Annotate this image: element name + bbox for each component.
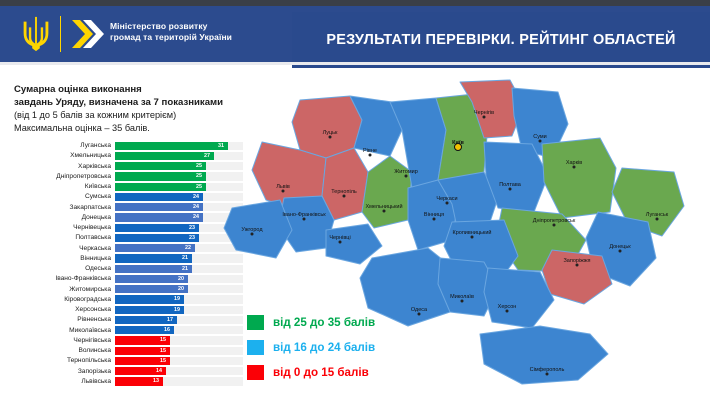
chart-bar-value: 20 — [178, 275, 184, 283]
chart-row: Рівненська17 — [8, 315, 248, 325]
chart-bar — [115, 254, 192, 262]
chart-row: Хмельницька27 — [8, 151, 248, 161]
chart-bar-value: 23 — [189, 234, 195, 242]
chart-bar-value: 23 — [189, 224, 195, 232]
chart-row-label: Хмельницька — [8, 151, 111, 161]
chart-bar — [115, 162, 206, 170]
map-city-label: Тернопіль — [331, 189, 357, 195]
page-title: РЕЗУЛЬТАТИ ПЕРЕВІРКИ. РЕЙТИНГ ОБЛАСТЕЙ — [326, 32, 675, 48]
map-city-label: Ужгород — [241, 227, 262, 233]
chart-row: Херсонська19 — [8, 305, 248, 315]
ministry-name-line1: Міністерство розвитку — [110, 21, 208, 31]
chart-row-label: Полтавська — [8, 233, 111, 243]
chart-row-label: Закарпатська — [8, 203, 111, 213]
chart-row: Вінницька21 — [8, 254, 248, 264]
map-city-label: Дніпропетровськ — [533, 218, 575, 224]
chart-bar — [115, 244, 195, 252]
ukraine-map: ЛуцькРівнеЛьвівТернопільУжгородІвано-Фра… — [222, 72, 710, 392]
chart-bar-value: 16 — [164, 326, 170, 334]
chart-bar-value: 22 — [185, 244, 191, 252]
chart-bar — [115, 152, 214, 160]
chart-row: Луганська31 — [8, 141, 248, 151]
chart-bar-value: 15 — [160, 357, 166, 365]
map-city-label: Київ — [452, 140, 464, 146]
chart-row: Закарпатська24 — [8, 203, 248, 213]
chart-row: Миколаївська16 — [8, 326, 248, 336]
infographic-page: Міністерство розвитку громад та територі… — [0, 0, 710, 401]
chart-row-label: Херсонська — [8, 305, 111, 315]
map-city-label: Луганськ — [646, 212, 668, 218]
chart-row-label: Львівська — [8, 377, 111, 387]
map-city-label: Чернівці — [329, 235, 350, 241]
chart-row-label: Одеська — [8, 264, 111, 274]
map-city-label: Запоріжжя — [563, 258, 590, 264]
chart-bar-value: 25 — [196, 172, 202, 180]
chart-bar-value: 24 — [193, 213, 199, 221]
chart-row-label: Рівненська — [8, 315, 111, 325]
map-city-label: Харків — [566, 160, 582, 166]
chart-row-label: Кіровоградська — [8, 295, 111, 305]
chart-row: Донецька24 — [8, 213, 248, 223]
chart-row-label: Чернівецька — [8, 223, 111, 233]
chart-bar — [115, 183, 206, 191]
map-city-label: Житомир — [394, 169, 418, 175]
chart-bar-value: 21 — [182, 265, 188, 273]
chart-row-label: Донецька — [8, 213, 111, 223]
oblast-khersonska — [484, 268, 554, 328]
chart-bar-value: 19 — [174, 295, 180, 303]
chart-row-label: Чернігівська — [8, 336, 111, 346]
chart-bar — [115, 203, 203, 211]
chart-bar-value: 19 — [174, 306, 180, 314]
header-underline — [0, 62, 710, 65]
map-city-label: Черкаси — [436, 196, 457, 202]
logo-divider — [60, 16, 61, 52]
map-city-label: Рівне — [363, 148, 377, 154]
chart-row-label: Дніпропетровська — [8, 172, 111, 182]
chart-row-label: Вінницька — [8, 254, 111, 264]
map-city-label: Вінниця — [424, 212, 444, 218]
map-city-label: Полтава — [499, 182, 521, 188]
double-chevron-icon — [70, 18, 104, 50]
chart-row: Волинська15 — [8, 346, 248, 356]
map-city-label: Херсон — [498, 304, 517, 310]
chart-row: Київська25 — [8, 182, 248, 192]
chart-row-label: Сумська — [8, 192, 111, 202]
chart-bar — [115, 224, 199, 232]
chart-bar-value: 25 — [196, 183, 202, 191]
chart-row-label: Івано-Франківська — [8, 274, 111, 284]
chart-bar-value: 25 — [196, 162, 202, 170]
chart-bar-value: 27 — [204, 152, 210, 160]
chart-bar — [115, 213, 203, 221]
chart-row: Харківська25 — [8, 162, 248, 172]
ministry-name-line2: громад та територій України — [110, 32, 232, 42]
chart-row: Запорізька14 — [8, 367, 248, 377]
map-city-label: Львів — [276, 184, 290, 190]
chart-bar — [115, 265, 192, 273]
ministry-name: Міністерство розвитку громад та територі… — [110, 21, 280, 43]
chart-row-label: Луганська — [8, 141, 111, 151]
chart-bar — [115, 234, 199, 242]
chart-row-label: Запорізька — [8, 367, 111, 377]
oblast-kharkivska — [542, 138, 616, 218]
chart-bar-value: 21 — [182, 254, 188, 262]
region-rating-bar-chart: Луганська31Хмельницька27Харківська25Дніп… — [8, 141, 248, 393]
chart-row: Тернопільська15 — [8, 356, 248, 366]
map-city-label: Сімферополь — [530, 367, 565, 373]
chart-row: Львівська13 — [8, 377, 248, 387]
chart-bar-value: 15 — [160, 347, 166, 355]
chart-bar-value: 24 — [193, 193, 199, 201]
chart-row: Чернігівська15 — [8, 336, 248, 346]
chart-bar-value: 20 — [178, 285, 184, 293]
chart-bar-value: 17 — [167, 316, 173, 324]
map-city-label: Луцьк — [323, 130, 338, 136]
chart-row: Івано-Франківська20 — [8, 274, 248, 284]
map-city-label: Миколаїв — [450, 294, 474, 300]
map-city-label: Суми — [533, 134, 547, 140]
map-city-label: Івано-Франківськ — [282, 212, 325, 218]
chart-row: Житомирська20 — [8, 285, 248, 295]
chart-row: Сумська24 — [8, 192, 248, 202]
ukraine-trident-icon — [20, 15, 52, 53]
header-title-panel: РЕЗУЛЬТАТИ ПЕРЕВІРКИ. РЕЙТИНГ ОБЛАСТЕЙ — [292, 12, 710, 68]
region-krym — [480, 326, 608, 384]
chart-bar-value: 13 — [153, 377, 159, 385]
chart-row-label: Волинська — [8, 346, 111, 356]
chart-row: Чернівецька23 — [8, 223, 248, 233]
chart-bar-value: 24 — [193, 203, 199, 211]
chart-bar — [115, 193, 203, 201]
chart-row: Черкаська22 — [8, 244, 248, 254]
chart-bar — [115, 142, 228, 150]
chart-row-label: Київська — [8, 182, 111, 192]
map-city-label: Хмельницький — [365, 204, 402, 210]
chart-row: Кіровоградська19 — [8, 295, 248, 305]
oblast-khmelnytska — [362, 156, 412, 228]
chart-row-label: Тернопільська — [8, 356, 111, 366]
chart-row: Одеська21 — [8, 264, 248, 274]
chart-bar-value: 14 — [156, 367, 162, 375]
chart-row: Дніпропетровська25 — [8, 172, 248, 182]
chart-bar — [115, 172, 206, 180]
chart-row-label: Житомирська — [8, 285, 111, 295]
map-city-label: Чернігів — [474, 110, 494, 116]
chart-row-label: Харківська — [8, 162, 111, 172]
chart-bar-value: 15 — [160, 336, 166, 344]
map-city-label: Кропивницький — [453, 230, 492, 236]
chart-row-label: Миколаївська — [8, 326, 111, 336]
chart-row: Полтавська23 — [8, 233, 248, 243]
map-city-label: Донецьк — [609, 244, 630, 250]
map-city-label: Одеса — [411, 307, 427, 313]
page-header: Міністерство розвитку громад та територі… — [0, 6, 710, 62]
chart-row-label: Черкаська — [8, 244, 111, 254]
